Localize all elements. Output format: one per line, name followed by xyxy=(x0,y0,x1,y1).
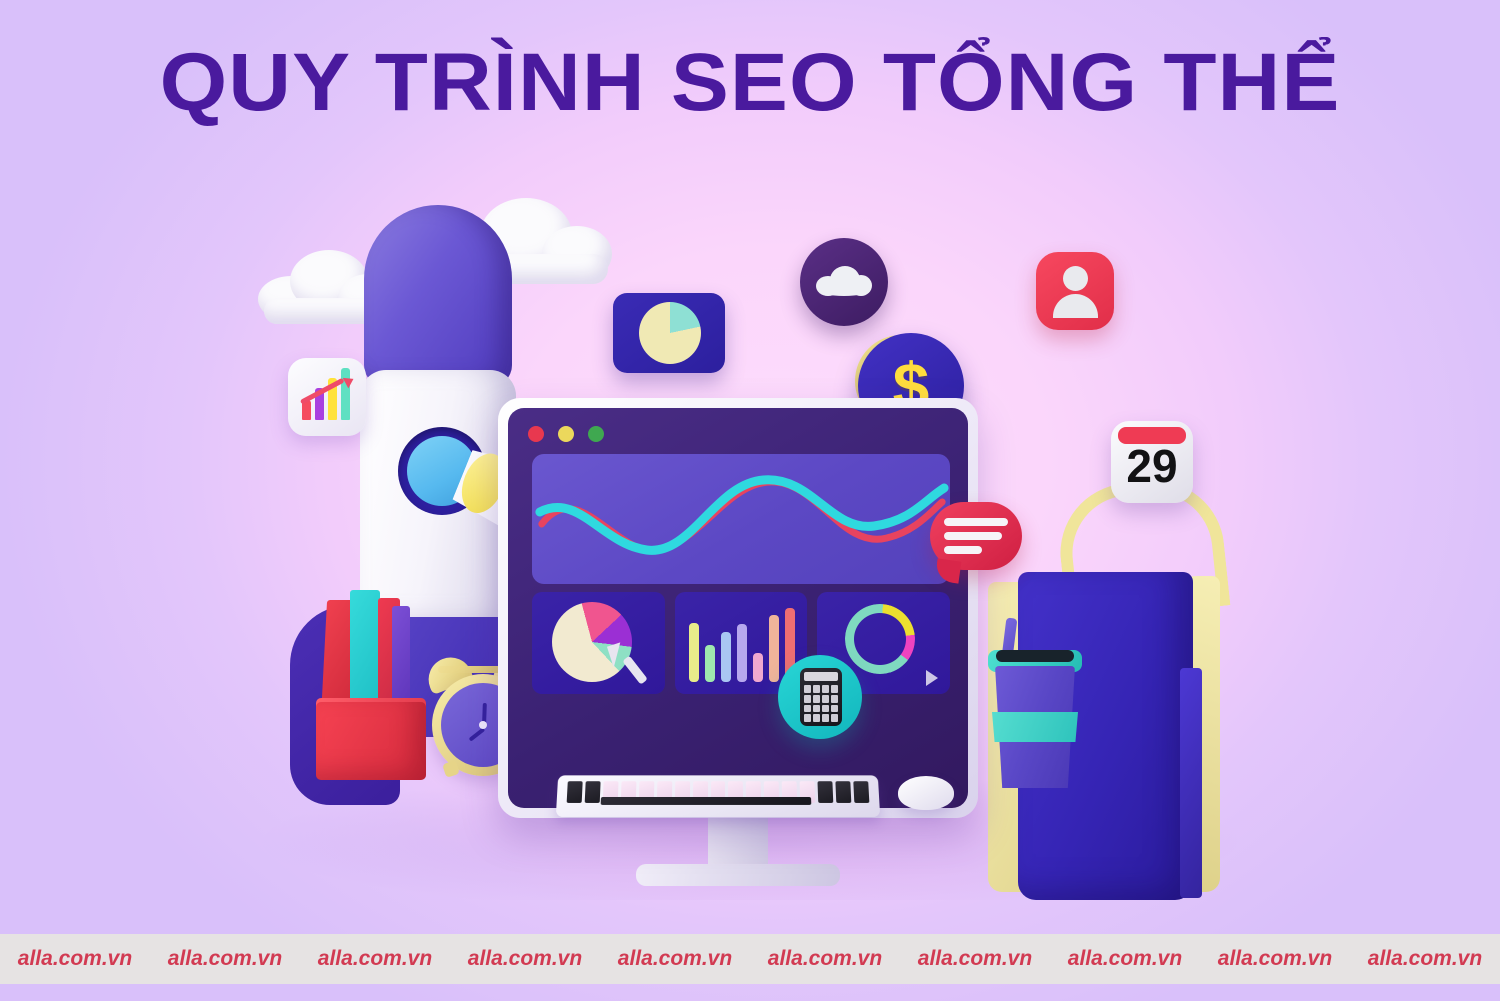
pie-chart-panel xyxy=(532,592,665,694)
pie-chart-icon xyxy=(613,293,725,373)
minimize-dot-icon[interactable] xyxy=(558,426,574,442)
watermark-text: alla.com.vn xyxy=(300,947,450,971)
monitor-screen xyxy=(508,408,968,808)
watermark-text: alla.com.vn xyxy=(450,947,600,971)
watermark-text: alla.com.vn xyxy=(1050,947,1200,971)
mouse xyxy=(898,776,954,810)
watermark-text: alla.com.vn xyxy=(750,947,900,971)
play-icon[interactable] xyxy=(926,670,938,686)
chat-bubble-icon xyxy=(930,502,1022,570)
calendar-day: 29 xyxy=(1111,443,1193,489)
chart-panels xyxy=(532,592,950,694)
growth-chart-icon xyxy=(288,358,366,436)
calculator-icon xyxy=(778,655,862,739)
watermark-text: alla.com.vn xyxy=(600,947,750,971)
watermark-text: alla.com.vn xyxy=(1200,947,1350,971)
keyboard xyxy=(556,775,880,817)
illustration-scene: $ 29 xyxy=(0,150,1500,940)
calendar-icon: 29 xyxy=(1111,421,1193,503)
line-chart-panel xyxy=(532,454,950,584)
user-avatar-icon xyxy=(1036,252,1114,330)
watermark-text: alla.com.vn xyxy=(1350,947,1500,971)
watermark-band: alla.com.vn alla.com.vn alla.com.vn alla… xyxy=(0,934,1500,984)
watermark-text: alla.com.vn xyxy=(900,947,1050,971)
book-holder-icon xyxy=(300,590,425,780)
page-title: QUY TRÌNH SEO TỔNG THỂ xyxy=(0,42,1500,124)
coffee-cup-icon xyxy=(990,650,1080,790)
watermark-text: alla.com.vn xyxy=(0,947,150,971)
watermark-text: alla.com.vn xyxy=(150,947,300,971)
poster-canvas: QUY TRÌNH SEO TỔNG THỂ xyxy=(0,0,1500,1001)
close-dot-icon[interactable] xyxy=(528,426,544,442)
monitor xyxy=(498,398,978,818)
cloud-circle-icon xyxy=(800,238,888,326)
maximize-dot-icon[interactable] xyxy=(588,426,604,442)
window-traffic-lights xyxy=(528,426,604,442)
